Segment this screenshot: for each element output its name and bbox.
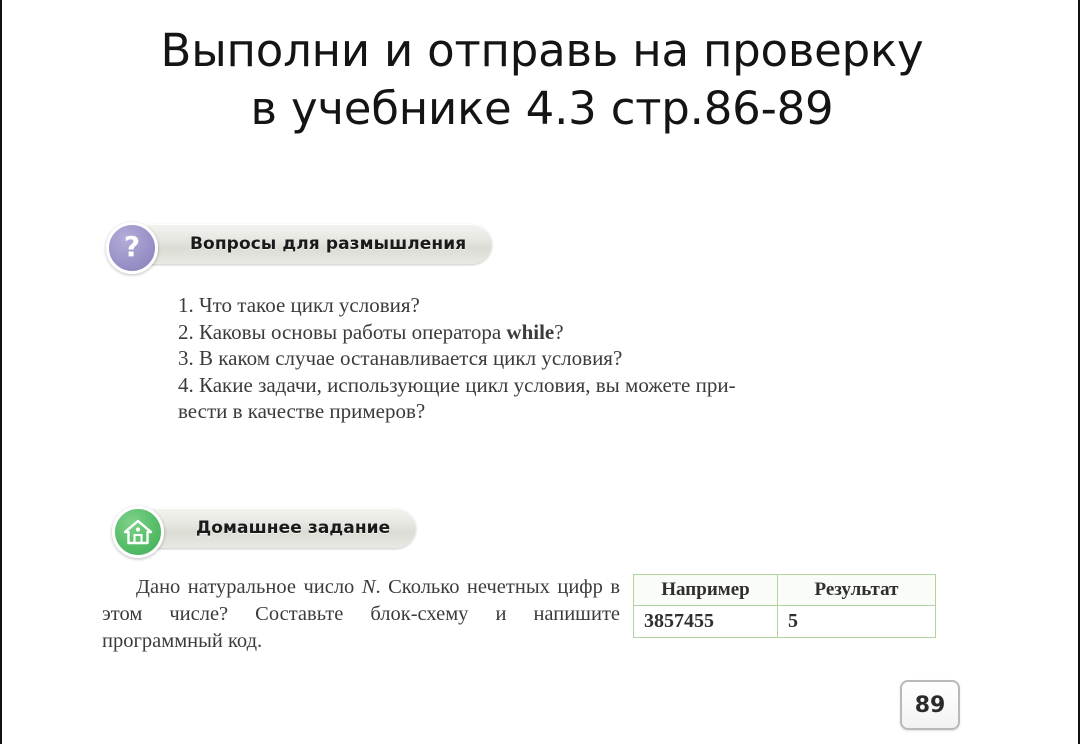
questions-header-label: Вопросы для размышления bbox=[146, 234, 492, 254]
question-item-2: 2. Каковы основы работы оператора while? bbox=[178, 319, 968, 346]
question-item-4-text: 4. Какие задачи, использующие цикл услов… bbox=[178, 373, 736, 397]
example-result-table: Например Результат 3857455 5 bbox=[633, 574, 936, 638]
table-header-row: Например Результат bbox=[634, 575, 936, 606]
house-icon bbox=[112, 506, 164, 558]
table-header-result: Результат bbox=[778, 575, 936, 606]
slide-page: Выполни и отправь на проверку в учебнике… bbox=[0, 0, 1080, 744]
page-number-label: 89 bbox=[915, 693, 946, 718]
question-mark-icon: ? bbox=[106, 222, 158, 274]
question-item-1: 1. Что такое цикл условия? bbox=[178, 292, 968, 319]
question-mark-glyph: ? bbox=[124, 233, 140, 261]
question-item-2-keyword: while bbox=[506, 320, 554, 344]
page-number-badge: 89 bbox=[900, 680, 960, 730]
table-header-example: Например bbox=[634, 575, 778, 606]
question-item-2-tail: ? bbox=[554, 320, 563, 344]
question-item-4-continued-text: вести в качестве примеров? bbox=[178, 399, 425, 423]
question-item-2-text: 2. Каковы основы работы оператора bbox=[178, 320, 506, 344]
page-title-line-2: в учебнике 4.3 стр.86-89 bbox=[2, 80, 1080, 138]
questions-header-pill: Вопросы для размышления bbox=[146, 224, 492, 264]
page-title: Выполни и отправь на проверку в учебнике… bbox=[2, 22, 1080, 138]
table-cell-result-value: 5 bbox=[778, 606, 936, 638]
homework-header-label: Домашнее задание bbox=[152, 518, 416, 538]
table-cell-example-value: 3857455 bbox=[634, 606, 778, 638]
question-item-4-continued: вести в качестве примеров? bbox=[178, 398, 968, 425]
homework-task-variable: N bbox=[362, 576, 376, 598]
homework-task-text: Дано натуральное число N. Сколько нечетн… bbox=[102, 574, 620, 655]
homework-task-part-1: Дано натуральное число bbox=[102, 576, 362, 598]
question-item-3: 3. В каком случае останавливается цикл у… bbox=[178, 345, 968, 372]
table-row: 3857455 5 bbox=[634, 606, 936, 638]
questions-list: 1. Что такое цикл условия? 2. Каковы осн… bbox=[178, 292, 968, 425]
question-item-3-text: 3. В каком случае останавливается цикл у… bbox=[178, 346, 622, 370]
question-item-4: 4. Какие задачи, использующие цикл услов… bbox=[178, 372, 968, 399]
homework-header-pill: Домашнее задание bbox=[152, 508, 416, 548]
question-item-1-text: 1. Что такое цикл условия? bbox=[178, 293, 420, 317]
page-title-line-1: Выполни и отправь на проверку bbox=[2, 22, 1080, 80]
